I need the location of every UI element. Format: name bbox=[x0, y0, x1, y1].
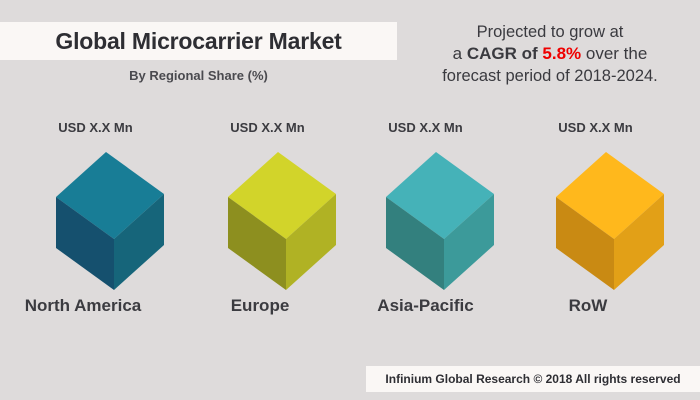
cagr-line-3: forecast period of 2018-2024. bbox=[404, 66, 696, 87]
page-title: Global Microcarrier Market bbox=[55, 28, 341, 55]
bar-value-label: USD X.X Mn bbox=[508, 120, 683, 135]
bar-value-label: USD X.X Mn bbox=[338, 120, 513, 135]
bar-value-label: USD X.X Mn bbox=[8, 120, 183, 135]
bar-category-label: North America bbox=[8, 296, 158, 315]
bar-chart: USD X.X Mn North America USD X.X Mn Euro… bbox=[0, 120, 700, 350]
cagr-suffix: over the bbox=[581, 44, 647, 63]
footer-band: Infinium Global Research © 2018 All righ… bbox=[366, 366, 700, 392]
bar-3d-box bbox=[190, 142, 338, 292]
bar-category-label: Europe bbox=[180, 296, 340, 315]
cagr-prefix: a bbox=[453, 44, 467, 63]
bar-3d-box bbox=[18, 142, 166, 292]
cagr-callout: Projected to grow at a CAGR of 5.8% over… bbox=[404, 22, 696, 87]
title-band: Global Microcarrier Market bbox=[0, 22, 397, 60]
bar-value-label: USD X.X Mn bbox=[180, 120, 355, 135]
bar-category-label: RoW bbox=[508, 296, 668, 315]
copyright-text: Infinium Global Research © 2018 All righ… bbox=[385, 372, 680, 386]
bar-group-europe: USD X.X Mn Europe bbox=[180, 120, 355, 350]
cagr-line-1: Projected to grow at bbox=[404, 22, 696, 43]
page-subtitle: By Regional Share (%) bbox=[0, 68, 397, 83]
cagr-line-2: a CAGR of 5.8% over the bbox=[404, 43, 696, 65]
bar-group-north-america: USD X.X Mn North America bbox=[8, 120, 183, 350]
cagr-value: 5.8% bbox=[542, 44, 581, 63]
bar-category-label: Asia-Pacific bbox=[338, 296, 513, 315]
bar-3d-box bbox=[348, 142, 496, 292]
cagr-strong-label: CAGR of bbox=[467, 44, 543, 63]
bar-group-asia-pacific: USD X.X Mn Asia-Pacific bbox=[338, 120, 513, 350]
infographic-canvas: Global Microcarrier Market By Regional S… bbox=[0, 0, 700, 400]
bar-3d-box bbox=[518, 142, 666, 292]
bar-group-row: USD X.X Mn RoW bbox=[508, 120, 683, 350]
